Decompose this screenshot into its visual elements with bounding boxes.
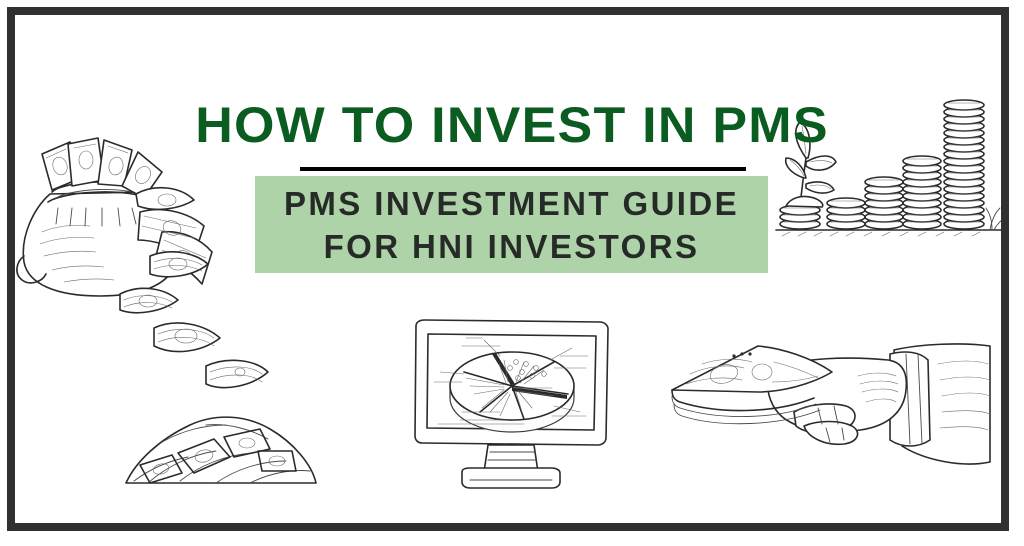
hand-holding-banknotes-illustration xyxy=(662,328,992,473)
subtitle-line-1: PMS INVESTMENT GUIDE xyxy=(284,182,739,225)
computer-monitor-pie-chart-illustration xyxy=(404,312,620,502)
subtitle-band: PMS INVESTMENT GUIDE FOR HNI INVESTORS xyxy=(255,176,768,273)
title-divider-rule xyxy=(300,167,746,171)
pile-of-cash-illustration xyxy=(120,395,320,495)
headline-block: HOW TO INVEST IN PMS PMS INVESTMENT GUID… xyxy=(0,0,1024,290)
subtitle-line-2: FOR HNI INVESTORS xyxy=(324,225,700,268)
poster-canvas: HOW TO INVEST IN PMS PMS INVESTMENT GUID… xyxy=(0,0,1024,546)
page-title: HOW TO INVEST IN PMS xyxy=(0,98,1024,152)
